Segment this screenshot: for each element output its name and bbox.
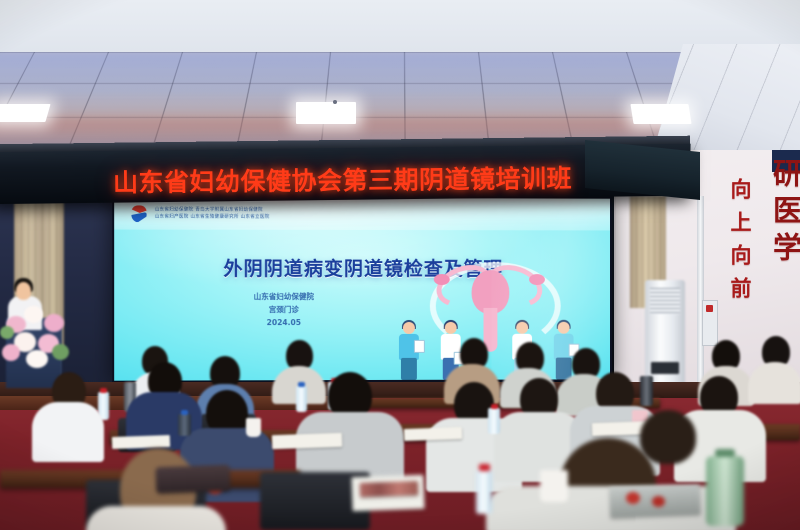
slide-subtitle: 山东省妇幼保健院 宫颈门诊 2024.05 xyxy=(203,290,364,330)
fruit-item xyxy=(626,492,640,504)
audience-body-foreground xyxy=(86,506,226,530)
flower-arrangement xyxy=(0,300,78,372)
ceiling-light-panel xyxy=(0,104,51,122)
wall-calligraphy-secondary: 研医学 xyxy=(770,158,800,269)
smoke-detector-icon xyxy=(333,100,337,104)
s-logo-icon xyxy=(130,204,147,223)
water-bottle xyxy=(476,470,492,514)
audience-body xyxy=(32,402,104,462)
wall-switch-box xyxy=(702,300,718,346)
fruit-item xyxy=(652,496,665,507)
water-bottle xyxy=(488,408,500,434)
slide-institution: 山东省妇幼保健院 xyxy=(203,290,364,303)
document-paper xyxy=(112,435,170,449)
slide-department: 宫颈门诊 xyxy=(203,303,364,316)
illustration-figure xyxy=(396,322,422,380)
conference-photo: 向上向前 研医学 山东省妇幼保健院 青岛大学附属山东省妇幼保健院 山东省妇产医院… xyxy=(0,0,800,530)
ceiling-light-panel xyxy=(296,102,356,124)
paper-cup xyxy=(246,418,261,437)
water-bottle xyxy=(178,414,191,436)
slide-org-line: 山东省妇产医院 山东省生殖健康研究所 山东省立医院 xyxy=(155,214,270,222)
wall-pipe xyxy=(697,196,704,386)
thermos xyxy=(640,376,653,406)
slide-date: 2024.05 xyxy=(203,316,364,329)
ceiling-light-panel xyxy=(630,104,691,124)
water-bottle xyxy=(296,386,307,412)
audience-head xyxy=(640,410,696,464)
ceiling-soffit xyxy=(0,0,800,56)
slide-organizations: 山东省妇幼保健院 青岛大学附属山东省妇幼保健院 山东省妇产医院 山东省生殖健康研… xyxy=(155,206,270,221)
handout-photo-strip xyxy=(360,481,418,497)
banner-title: 山东省妇幼保健协会第三期阴道镜培训班 xyxy=(113,159,613,200)
document-paper xyxy=(404,427,462,441)
green-water-bottle xyxy=(706,456,744,526)
handbag xyxy=(156,465,231,494)
document-paper xyxy=(272,433,342,449)
audience-body xyxy=(748,362,800,404)
wall-calligraphy-primary: 向上向前 xyxy=(729,178,751,310)
presenter-head xyxy=(16,282,31,300)
paper-cup xyxy=(540,470,568,502)
